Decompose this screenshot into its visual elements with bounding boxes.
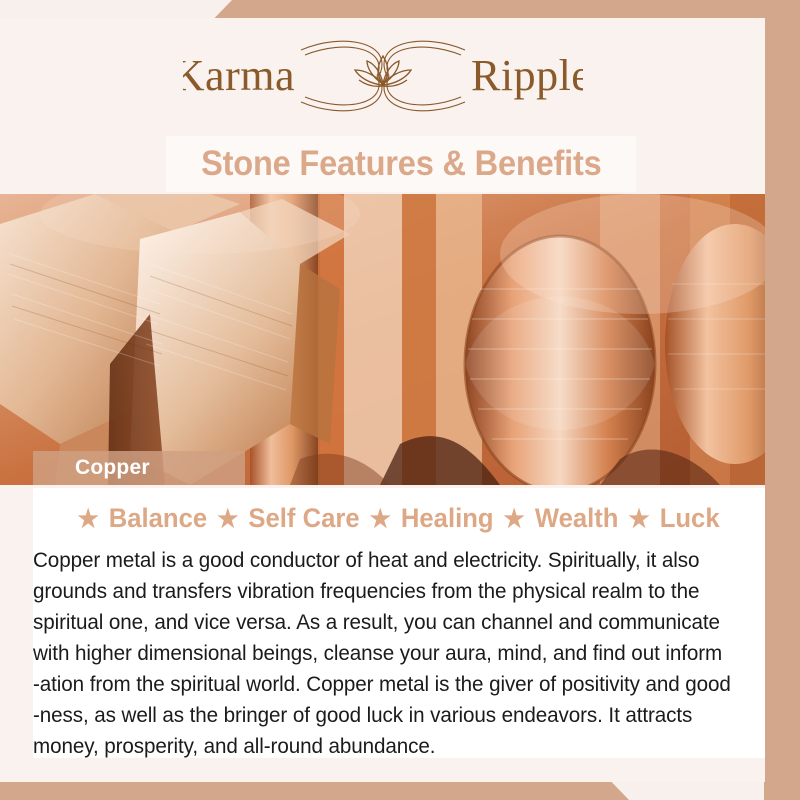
- logo-artwork: Karma Ripple: [183, 28, 583, 128]
- copper-bars-photo: [0, 194, 765, 485]
- hero-image: [0, 194, 765, 485]
- page-title: Stone Features & Benefits: [201, 144, 602, 184]
- title-banner: Stone Features & Benefits: [166, 136, 636, 192]
- benefit-luck: Luck: [658, 503, 722, 533]
- star-icon-4: ★: [503, 505, 526, 533]
- star-icon-1: ★: [76, 505, 99, 533]
- description-line: grounds and transfers vibration frequenc…: [33, 576, 726, 607]
- brand-logo: Karma Ripple: [0, 26, 765, 130]
- description-line: with higher dimensional beings, cleanse …: [33, 638, 726, 669]
- hero-label-text: Copper: [75, 456, 150, 480]
- benefit-wealth: Wealth: [533, 503, 620, 533]
- benefit-self-care: Self Care: [246, 503, 361, 533]
- benefit-healing: Healing: [399, 503, 495, 533]
- brand-name-left: Karma: [183, 51, 295, 100]
- description-line: -ness, as well as the bringer of good lu…: [33, 700, 726, 731]
- star-icon-3: ★: [369, 505, 392, 533]
- star-icon-5: ★: [627, 505, 650, 533]
- description-text: Copper metal is a good conductor of heat…: [33, 545, 736, 762]
- brand-name-right: Ripple: [471, 51, 583, 100]
- description-line: -ation from the spiritual world. Copper …: [33, 669, 726, 700]
- content-panel: ★ Balance ★ Self Care ★ Healing ★ Wealth…: [33, 488, 765, 758]
- benefits-list: ★ Balance ★ Self Care ★ Healing ★ Wealth…: [51, 503, 746, 534]
- star-icon-2: ★: [216, 505, 239, 533]
- promo-card: Karma Ripple Stone Features & Benefits: [0, 0, 800, 800]
- description-line: Copper metal is a good conductor of heat…: [33, 545, 726, 576]
- lotus-icon: [355, 56, 411, 86]
- description-line: spiritual one, and vice versa. As a resu…: [33, 607, 726, 638]
- description-line: money, prosperity, and all-round abundan…: [33, 731, 726, 762]
- hero-label: Copper: [33, 451, 245, 485]
- decorative-band-right: [764, 0, 800, 800]
- benefit-balance: Balance: [107, 503, 209, 533]
